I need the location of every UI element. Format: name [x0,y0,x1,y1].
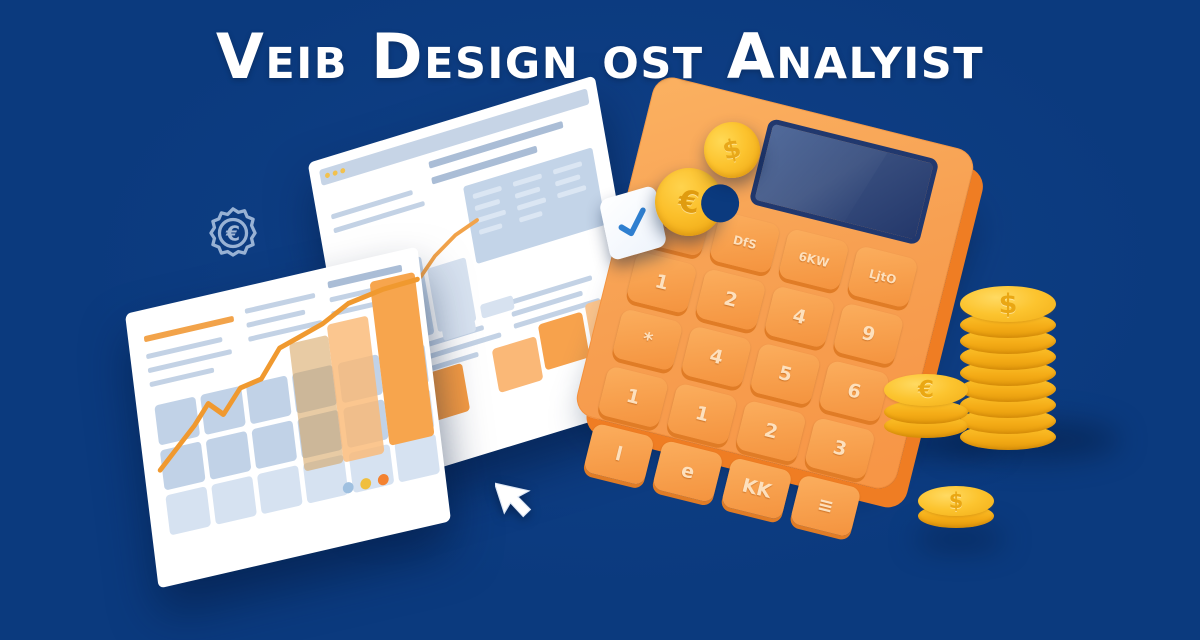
calc-key[interactable]: 1 [626,251,698,315]
doc-text-line [331,190,413,220]
grid-cell [211,476,257,525]
checkmark-icon [613,202,653,245]
calc-key[interactable]: 4 [763,285,835,349]
doc-tile [480,295,515,319]
calc-key[interactable]: 4 [680,325,752,389]
calc-key[interactable]: LjtO [847,245,919,309]
doc-bar [492,336,544,393]
grid-cell [165,486,211,535]
coin-stack-euro-symbol: € [884,374,968,406]
calc-key[interactable]: e [652,440,724,504]
browser-dot [325,172,331,178]
doc-text-line [333,201,425,234]
calc-key[interactable]: ≡ [789,474,861,538]
calc-key[interactable]: * [611,308,683,372]
calc-key[interactable]: 6KW [778,228,850,292]
coin-stack-dollar-symbol: $ [960,286,1056,322]
browser-dot [340,167,346,173]
doc-bar [538,311,590,370]
cursor-arrow-icon [495,472,541,524]
calc-key[interactable]: 6 [818,360,890,424]
coin-disc-top: $ [960,286,1056,322]
calc-key[interactable]: 9 [832,302,904,366]
calc-key[interactable]: 5 [749,342,821,406]
coin-disc-top: € [884,374,968,406]
grid-cell [257,465,303,514]
browser-traffic-dots [325,167,346,178]
svg-text:€: € [225,222,240,246]
coin-dollar-bottom: $ [918,484,994,534]
coin-dollar-bottom-symbol: $ [918,486,994,516]
browser-dot [332,170,338,176]
calc-key[interactable]: 3 [804,417,876,481]
coin-stack-dollar: $ [960,272,1056,452]
euro-gear-icon: € [204,204,262,262]
calc-key[interactable]: 1 [666,383,738,447]
calc-key[interactable]: 1 [597,365,669,429]
coin-disc-top: $ [918,486,994,516]
calc-key[interactable]: l [583,423,655,487]
page-title: Veib Design ost Analyist [216,24,984,89]
calc-key[interactable]: 2 [694,268,766,332]
calc-key[interactable]: 2 [735,400,807,464]
page-title-container: Veib Design ost Analyist [0,24,1200,89]
illustration-canvas: Veib Design ost Analyist € € $ [0,0,1200,640]
report-sheet-front [125,247,451,589]
coin-stack-euro: € [884,366,968,446]
calc-key[interactable]: KK [721,457,793,521]
